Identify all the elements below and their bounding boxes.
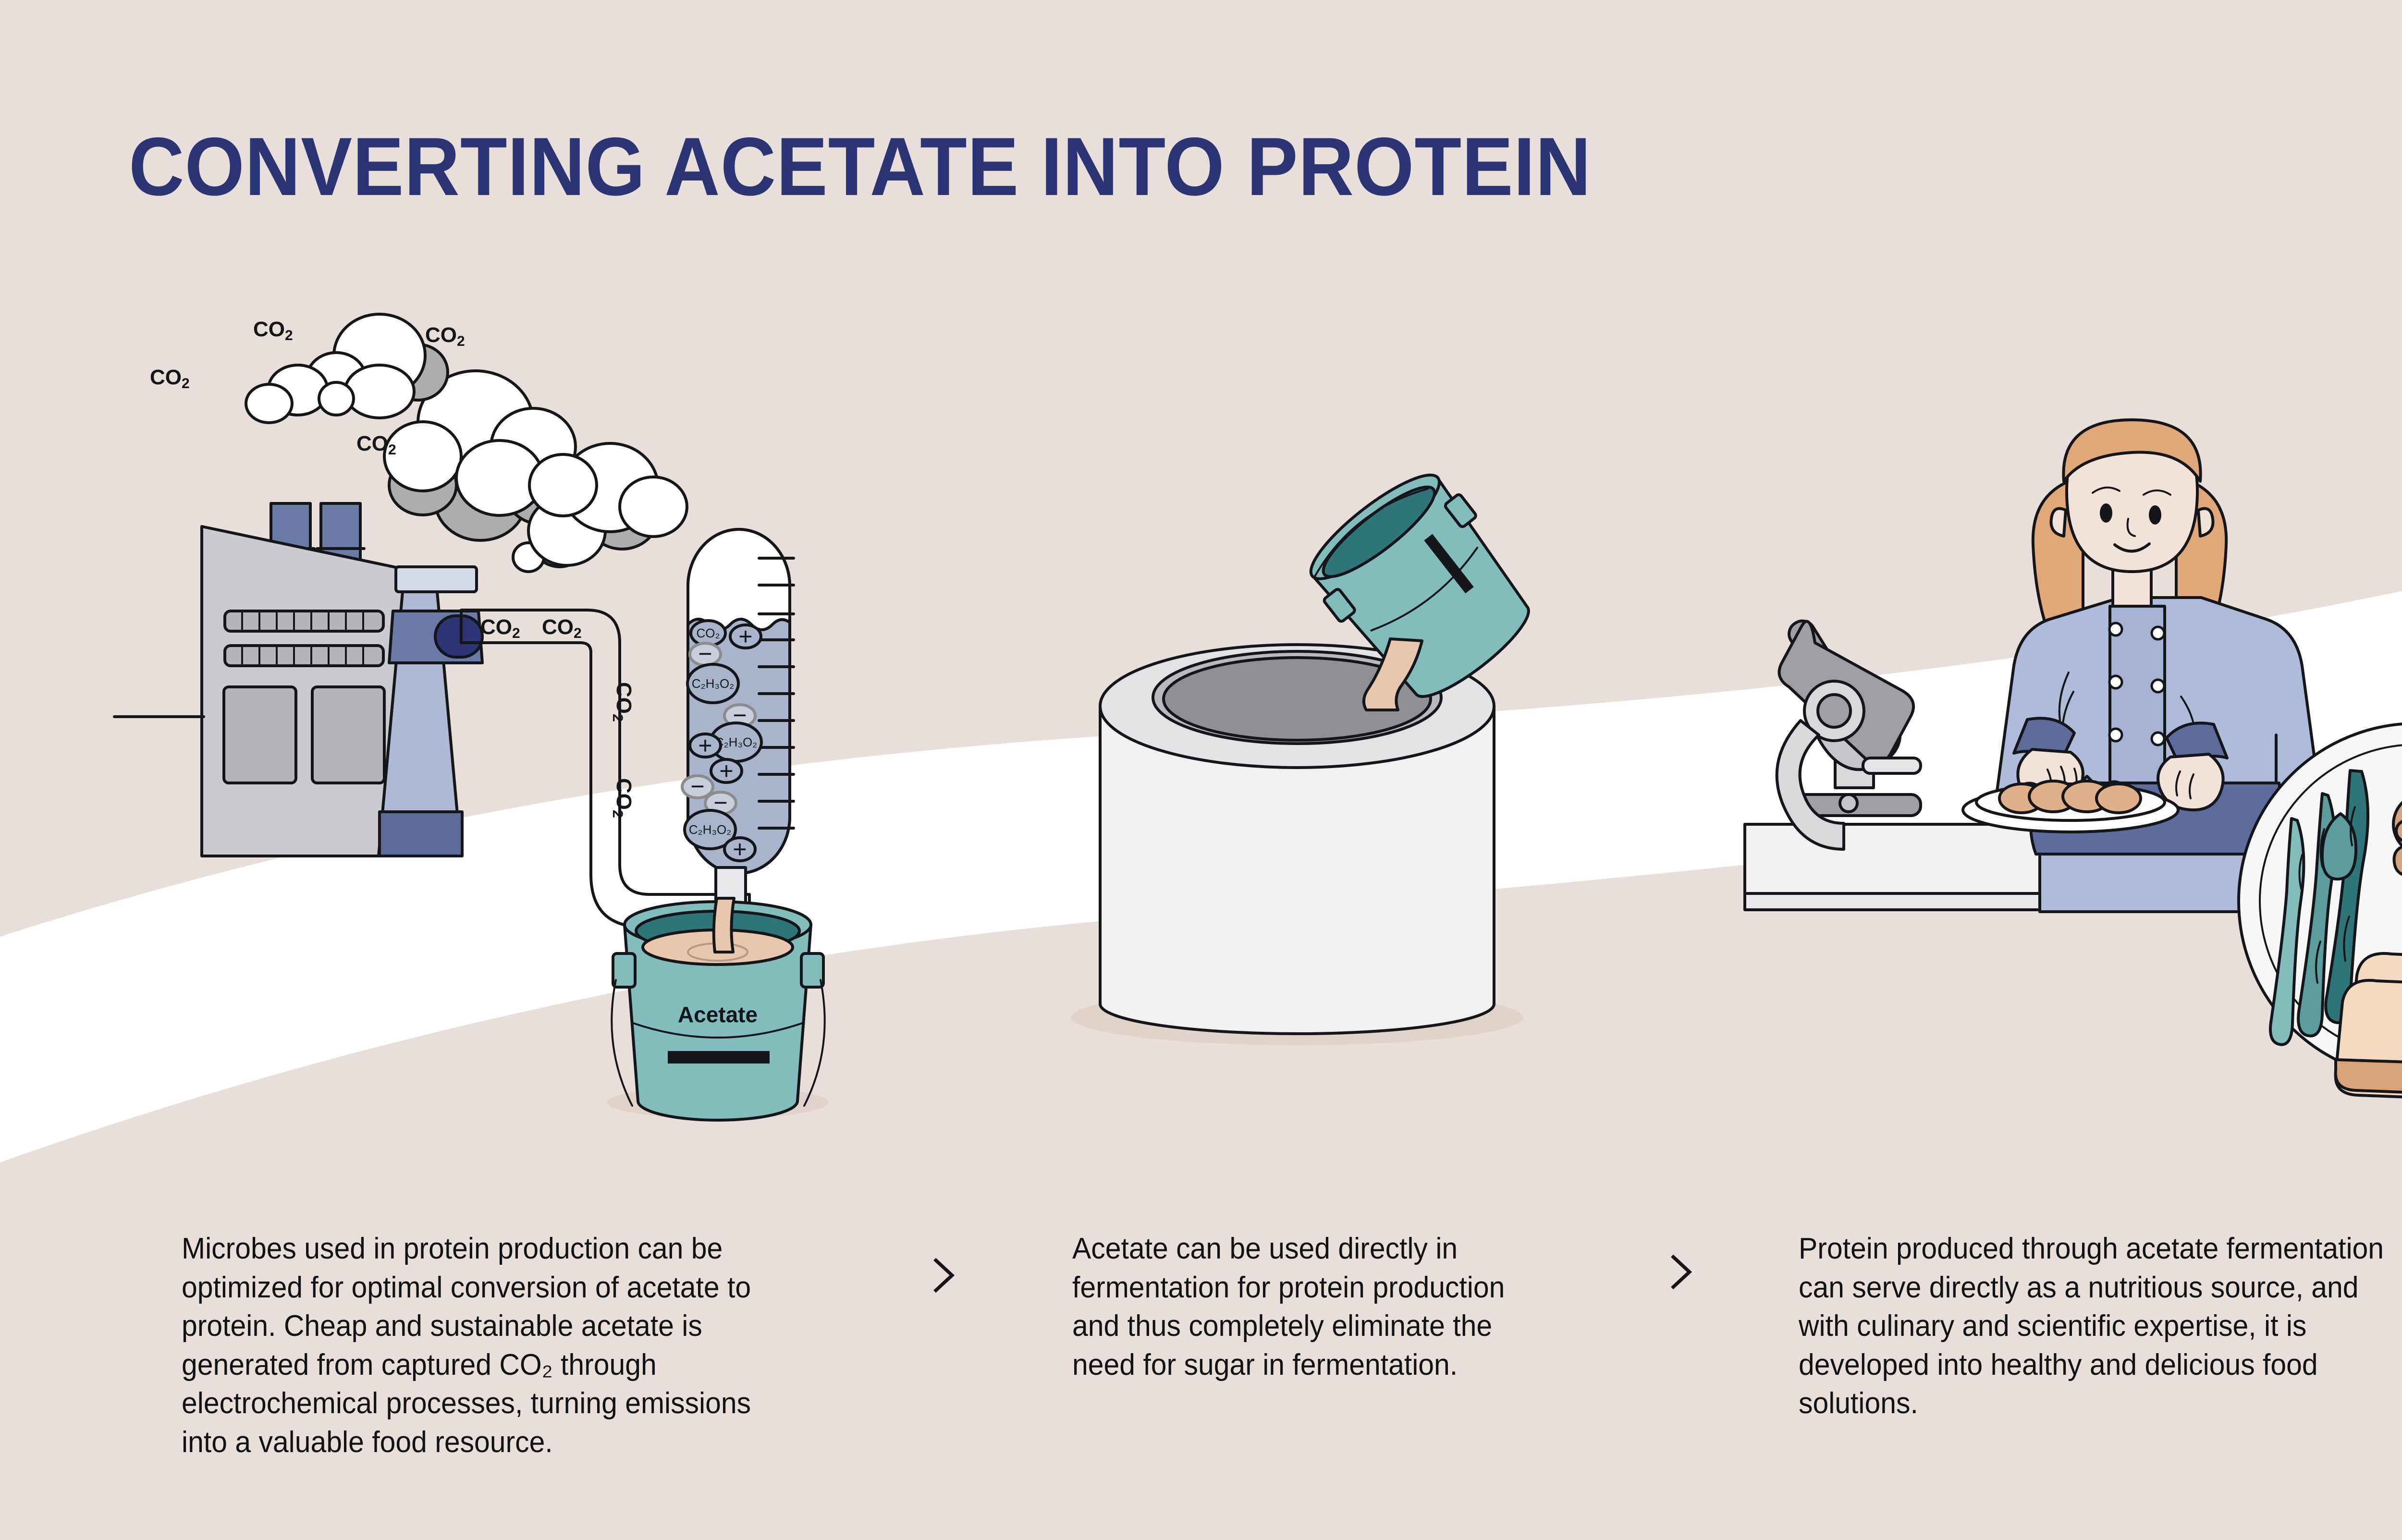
caption-stage-1: Microbes used in protein production can … bbox=[182, 1230, 789, 1462]
caption-row: Microbes used in protein production can … bbox=[0, 1230, 2402, 1499]
caption-stage-3: Protein produced through acetate ferment… bbox=[1799, 1230, 2388, 1423]
page-title: CONVERTING ACETATE INTO PROTEIN bbox=[129, 119, 1591, 214]
infographic-canvas: CONVERTING ACETATE INTO PROTEIN .ln{stro… bbox=[0, 0, 2402, 1540]
caption-stage-2: Acetate can be used directly in fermenta… bbox=[1072, 1230, 1556, 1384]
